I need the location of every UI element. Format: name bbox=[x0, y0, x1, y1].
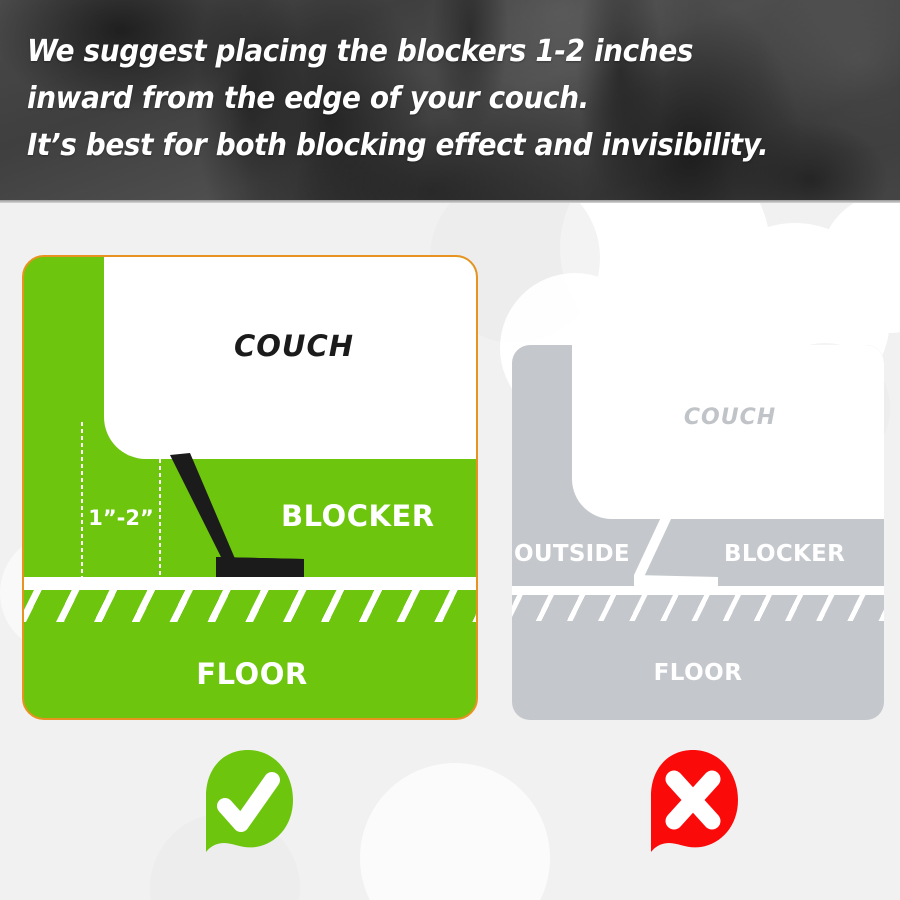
panel-correct-placement: COUCH 1”-2” BLOCKER FLOOR bbox=[22, 255, 478, 720]
floor-line-good bbox=[24, 577, 478, 590]
outside-label-bad: OUTSIDE bbox=[514, 541, 630, 567]
headline-text: We suggest placing the blockers 1-2 inch… bbox=[27, 28, 827, 169]
panel-incorrect-placement: COUCH OUTSIDE BLOCKER FLOOR bbox=[512, 345, 884, 720]
blocker-label-good: BLOCKER bbox=[281, 499, 435, 533]
couch-label-bad: COUCH bbox=[572, 405, 884, 430]
blocker-label-bad: BLOCKER bbox=[724, 541, 845, 567]
couch-label-good: COUCH bbox=[104, 329, 478, 363]
measure-guide-left bbox=[81, 422, 83, 580]
infographic-root: We suggest placing the blockers 1-2 inch… bbox=[0, 0, 900, 900]
measurement-label: 1”-2” bbox=[80, 506, 162, 530]
floor-label-bad: FLOOR bbox=[512, 660, 884, 686]
check-icon bbox=[198, 748, 298, 856]
cross-icon bbox=[643, 748, 743, 856]
bokeh-circle bbox=[360, 763, 550, 900]
header-banner: We suggest placing the blockers 1-2 inch… bbox=[0, 0, 900, 203]
floor-hatching-bad bbox=[512, 595, 884, 621]
floor-hatching-good bbox=[24, 590, 478, 622]
floor-label-good: FLOOR bbox=[24, 657, 478, 691]
floor-line-bad bbox=[512, 586, 884, 595]
